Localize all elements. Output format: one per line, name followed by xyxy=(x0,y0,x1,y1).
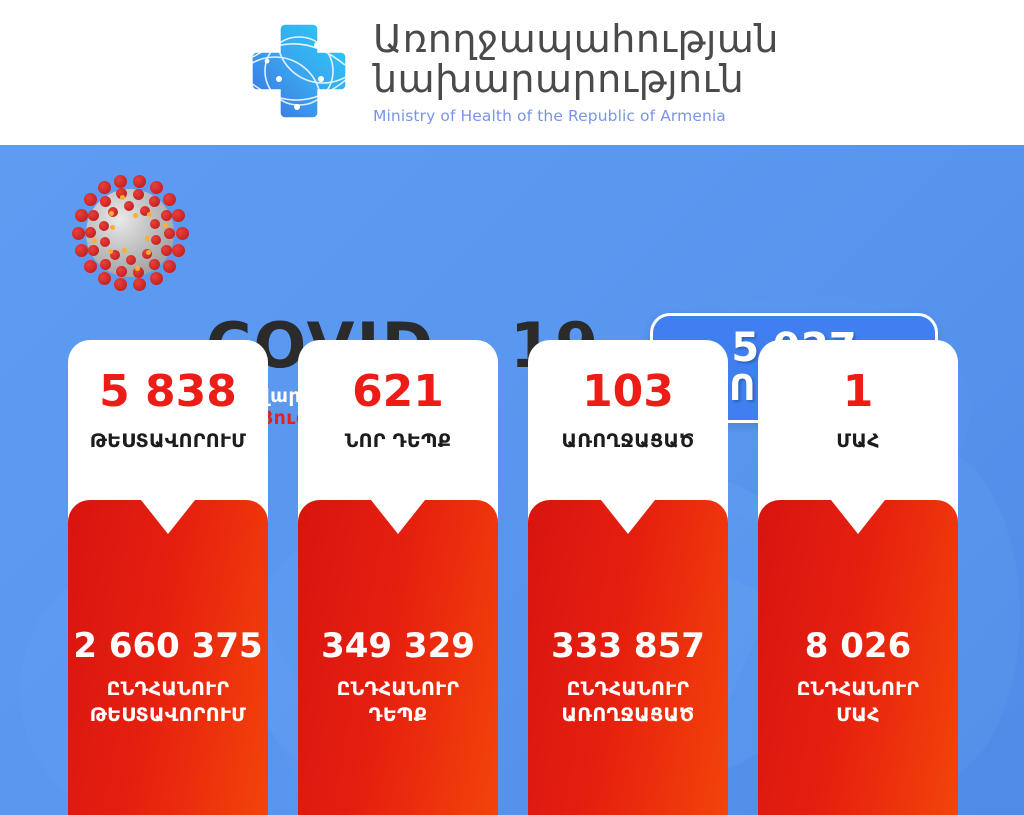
stat-card-total: 2 660 375 ԸՆԴՀԱՆՈՒՐ ԹԵՍՏԱՎՈՐՈՒՄ xyxy=(68,500,268,815)
stat-card: 1 ՄԱՀ 8 026 ԸՆԴՀԱՆՈՒՐ ՄԱՀ xyxy=(758,340,958,815)
total-label-line2: ԴԵՊՔ xyxy=(369,704,428,726)
total-value: 349 329 xyxy=(321,629,475,663)
ministry-name-hy-line2: նախարարություն xyxy=(373,60,779,100)
ministry-title-block: Առողջապահության նախարարություն Ministry … xyxy=(373,20,779,125)
ministry-header: Առողջապահության նախարարություն Ministry … xyxy=(0,0,1024,145)
total-label-line2: ԹԵՍՏԱՎՈՐՈՒՄ xyxy=(90,704,247,726)
daily-label: ՆՈՐ ԴԵՊՔ xyxy=(345,430,452,452)
total-value: 333 857 xyxy=(551,629,705,663)
ministry-name-en: Ministry of Health of the Republic of Ar… xyxy=(373,107,779,125)
total-value: 8 026 xyxy=(805,629,911,663)
total-label: ԸՆԴՀԱՆՈՒՐ ԴԵՊՔ xyxy=(337,677,460,728)
total-label: ԸՆԴՀԱՆՈՒՐ ՄԱՀ xyxy=(797,677,920,728)
notch-shape xyxy=(371,500,425,534)
stat-card-grid: 5 838 ԹԵՍՏԱՎՈՐՈՒՄ 2 660 375 ԸՆԴՀԱՆՈՒՐ ԹԵ… xyxy=(68,340,958,815)
notch-shape xyxy=(831,500,885,534)
daily-label: ՄԱՀ xyxy=(836,430,880,452)
total-label-line2: ՄԱՀ xyxy=(836,704,880,726)
total-value: 2 660 375 xyxy=(73,629,262,663)
stats-body: COVID - 19 Հունվարի 20 Ցուցանիշներ 5 927… xyxy=(0,145,1024,815)
total-label: ԸՆԴՀԱՆՈՒՐ ԱՌՈՂՋԱՑԱԾ xyxy=(561,677,694,728)
notch-shape xyxy=(601,500,655,534)
total-label-line1: ԸՆԴՀԱՆՈՒՐ xyxy=(797,678,920,700)
stat-card-total: 349 329 ԸՆԴՀԱՆՈՒՐ ԴԵՊՔ xyxy=(298,500,498,815)
covid-statistics-infographic: Առողջապահության նախարարություն Ministry … xyxy=(0,0,1024,815)
coronavirus-illustration-icon xyxy=(66,169,194,297)
total-label: ԸՆԴՀԱՆՈՒՐ ԹԵՍՏԱՎՈՐՈՒՄ xyxy=(90,677,247,728)
total-label-line1: ԸՆԴՀԱՆՈՒՐ xyxy=(107,678,230,700)
daily-value: 621 xyxy=(352,370,444,414)
health-cross-network-logo-icon xyxy=(245,17,353,129)
stat-card: 5 838 ԹԵՍՏԱՎՈՐՈՒՄ 2 660 375 ԸՆԴՀԱՆՈՒՐ ԹԵ… xyxy=(68,340,268,815)
ministry-name-hy-line1: Առողջապահության xyxy=(373,20,779,60)
stat-card-total: 8 026 ԸՆԴՀԱՆՈՒՐ ՄԱՀ xyxy=(758,500,958,815)
daily-value: 103 xyxy=(582,370,674,414)
daily-label: ԹԵՍՏԱՎՈՐՈՒՄ xyxy=(90,430,247,452)
stat-card: 621 ՆՈՐ ԴԵՊՔ 349 329 ԸՆԴՀԱՆՈՒՐ ԴԵՊՔ xyxy=(298,340,498,815)
daily-value: 5 838 xyxy=(99,370,237,414)
daily-value: 1 xyxy=(843,370,874,414)
daily-label: ԱՌՈՂՋԱՑԱԾ xyxy=(561,430,694,452)
notch-shape xyxy=(141,500,195,534)
total-label-line1: ԸՆԴՀԱՆՈՒՐ xyxy=(337,678,460,700)
stat-card-total: 333 857 ԸՆԴՀԱՆՈՒՐ ԱՌՈՂՋԱՑԱԾ xyxy=(528,500,728,815)
total-label-line1: ԸՆԴՀԱՆՈՒՐ xyxy=(567,678,690,700)
total-label-line2: ԱՌՈՂՋԱՑԱԾ xyxy=(561,704,694,726)
stat-card: 103 ԱՌՈՂՋԱՑԱԾ 333 857 ԸՆԴՀԱՆՈՒՐ ԱՌՈՂՋԱՑԱ… xyxy=(528,340,728,815)
